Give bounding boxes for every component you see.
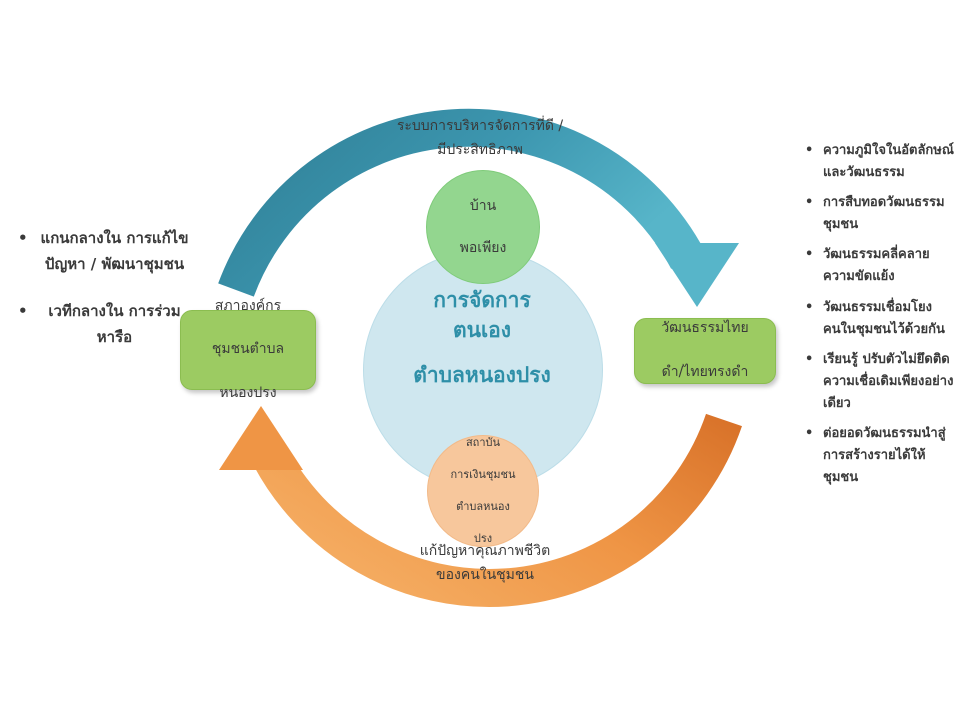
top-arc-caption-line1: ระบบการบริหารจัดการที่ดี / [397,118,563,134]
left-box-node: สภาองค์กร ชุมชนตำบล หนองปรง [180,310,316,390]
left-box-line3: หนองปรง [212,383,284,405]
right-box-label: วัฒนธรรมไทย ดำ/ไทยทรงดำ [661,318,748,383]
top-circle-label: บ้าน พอเพียง [460,196,507,259]
right-bullet-text-2: วัฒนธรรมคลี่คลายความขัดแย้ง [823,247,930,284]
bottom-arc-caption: แก้ปัญหาคุณภาพชีวิต ของคนในชุมชน [350,540,620,588]
left-bullet-list: แกนกลางใน การแก้ไขปัญหา / พัฒนาชุมชน เวท… [18,225,193,370]
top-circle-node: บ้าน พอเพียง [426,170,540,284]
bottom-circle-node: สถาบัน การเงินชุมชน ตำบลหนอง ปรง [427,435,539,547]
list-item: เวทีกลางใน การร่วม หารือ [18,298,193,351]
bottom-arc-caption-line1: แก้ปัญหาคุณภาพชีวิต [420,543,551,559]
bottom-circle-line2: การเงินชุมชน [450,467,515,483]
bottom-circle-label: สถาบัน การเงินชุมชน ตำบลหนอง ปรง [450,435,515,547]
right-box-line1: วัฒนธรรมไทย [661,318,748,340]
top-circle-line2: พอเพียง [460,238,507,259]
list-item: วัฒนธรรมคลี่คลายความขัดแย้ง [805,244,955,288]
right-box-node: วัฒนธรรมไทย ดำ/ไทยทรงดำ [634,318,776,384]
center-label-line3: ตำบลหนองปรง [370,360,594,390]
bottom-circle-line3: ตำบลหนอง [450,499,515,515]
diagram-canvas: การจัดการ ตนเอง ตำบลหนองปรง บ้าน พอเพียง… [0,0,960,720]
right-bullet-text-3: วัฒนธรรมเชื่อมโยงคนในชุมชนไว้ด้วยกัน [823,300,945,337]
top-arc-caption: ระบบการบริหารจัดการที่ดี / มีประสิทธิภาพ [325,115,635,163]
left-bullet-text-1: เวทีกลางใน การร่วม หารือ [48,302,180,346]
bottom-circle-line1: สถาบัน [450,435,515,451]
center-label: การจัดการ ตนเอง ตำบลหนองปรง [370,285,594,390]
list-item: ความภูมิใจในอัตลักษณ์และวัฒนธรรม [805,140,955,184]
right-box-line2: ดำ/ไทยทรงดำ [661,362,748,384]
list-item: ต่อยอดวัฒนธรรมนำสู่การสร้างรายได้ให้ชุมช… [805,423,955,489]
list-item: เรียนรู้ ปรับตัวไม่ยึดติดความเชื่อเดิมเพ… [805,349,955,415]
bottom-arc-caption-line2: ของคนในชุมชน [436,567,534,583]
left-bullet-text-0: แกนกลางใน การแก้ไขปัญหา / พัฒนาชุมชน [41,229,189,273]
center-label-line2: ตนเอง [453,318,511,342]
right-bullet-text-4: เรียนรู้ ปรับตัวไม่ยึดติดความเชื่อเดิมเพ… [823,352,953,411]
center-label-line1: การจัดการ [433,288,531,312]
right-bullet-text-5: ต่อยอดวัฒนธรรมนำสู่การสร้างรายได้ให้ชุมช… [823,426,946,485]
list-item: แกนกลางใน การแก้ไขปัญหา / พัฒนาชุมชน [18,225,193,278]
right-bullet-list: ความภูมิใจในอัตลักษณ์และวัฒนธรรม การสืบท… [805,140,955,497]
left-box-label: สภาองค์กร ชุมชนตำบล หนองปรง [212,296,284,404]
right-bullet-text-0: ความภูมิใจในอัตลักษณ์และวัฒนธรรม [823,143,954,180]
list-item: วัฒนธรรมเชื่อมโยงคนในชุมชนไว้ด้วยกัน [805,297,955,341]
top-circle-line1: บ้าน [460,196,507,217]
left-box-line1: สภาองค์กร [212,296,284,318]
left-box-line2: ชุมชนตำบล [212,339,284,361]
right-bullet-text-1: การสืบทอดวัฒนธรรมชุมชน [823,195,945,232]
list-item: การสืบทอดวัฒนธรรมชุมชน [805,192,955,236]
top-arc-caption-line2: มีประสิทธิภาพ [437,142,523,158]
